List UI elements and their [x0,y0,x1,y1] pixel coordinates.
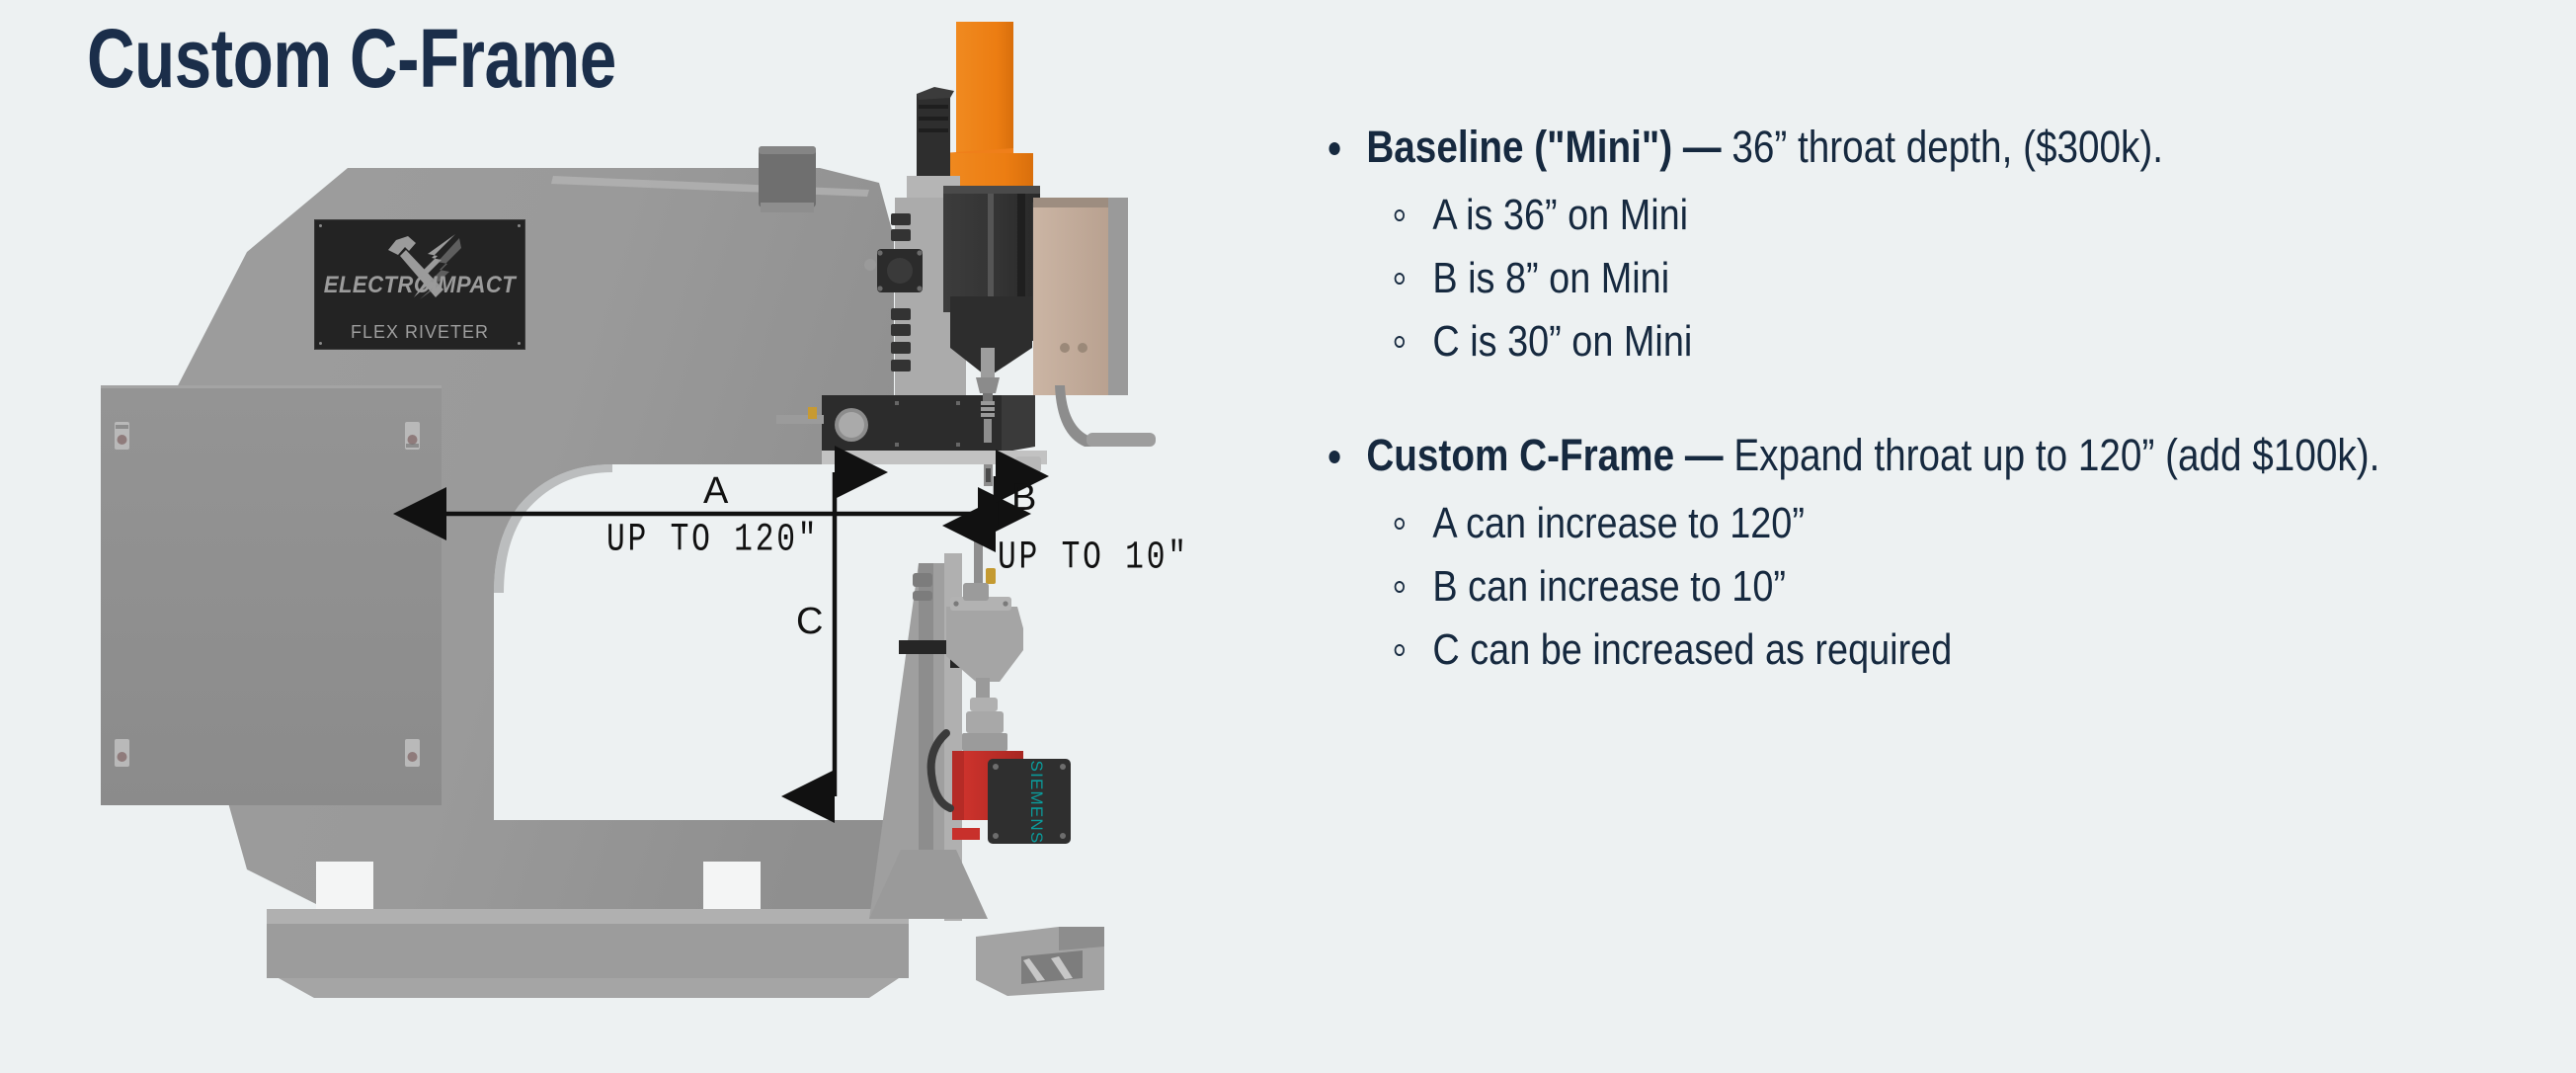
hollow-bullet-icon [1395,518,1405,530]
hollow-bullet-icon [1395,581,1405,593]
sub-bullet-a-mini: A is 36” on Mini [1314,184,2576,247]
logo-product-text: FLEX RIVETER [315,322,524,343]
panel-latch [405,422,420,450]
bullet-custom-rest: Expand throat up to 120” (add $100k). [1724,430,2380,480]
sub-bullet-text: C is 30” on Mini [1432,317,1692,366]
hollow-bullet-icon [1395,209,1405,221]
sub-bullet-text: B can increase to 10” [1432,562,1786,611]
column-fitting [913,573,932,587]
slide-root: Custom C-Frame [0,0,2576,1073]
svg-text:SIEMENS: SIEMENS [1027,761,1046,845]
sub-bullet-a-custom: A can increase to 120” [1314,492,2576,555]
bullet-baseline-lead: Baseline ("Mini") — [1366,122,1721,172]
panel-latch [115,739,129,767]
dimension-note-b: UP TO 10" [998,538,1189,578]
sub-bullet-b-mini: B is 8” on Mini [1314,247,2576,310]
logo-brand-text: ELECTROIMPACT [323,272,516,299]
plate-screw [319,224,322,227]
plate-screw [518,224,521,227]
panel-latch [405,739,420,767]
bullet-custom-c-frame: Custom C-Frame — Expand throat up to 120… [1314,425,2576,486]
lower-anvil-assembly: SIEMENS [869,538,1071,921]
dimension-label-a: A [703,472,728,510]
sub-bullet-b-custom: B can increase to 10” [1314,555,2576,619]
sub-bullet-c-mini: C is 30” on Mini [1314,310,2576,373]
floor-foot-bracket [976,927,1104,996]
bellows-actuator [917,87,954,183]
siemens-motor: SIEMENS [988,759,1071,844]
hydraulic-cylinder [759,146,816,212]
bullet-baseline-rest: 36” throat depth, ($300k). [1722,122,2163,172]
sub-bullet-text: C can be increased as required [1432,625,1952,674]
hollow-bullet-icon [1395,336,1405,348]
bullet-dot-icon [1328,142,1339,155]
bullet-dot-icon [1328,451,1339,463]
electroimpact-logo-plate: ELECTROIMPACT FLEX RIVETER [314,219,525,350]
hollow-bullet-icon [1395,644,1405,656]
ram-block [943,186,1040,312]
bullet-custom-lead: Custom C-Frame — [1366,430,1723,480]
sub-bullet-text: A can increase to 120” [1432,499,1805,547]
sub-bullet-text: A is 36” on Mini [1432,191,1688,239]
bullet-baseline: Baseline ("Mini") — 36” throat depth, ($… [1314,117,2576,178]
dimension-label-c: C [796,603,823,640]
panel-latch [115,422,129,450]
sub-bullet-c-custom: C can be increased as required [1314,619,2576,682]
bullet-group-spacer [1314,373,2548,425]
dimension-note-a: UP TO 120" [606,521,819,560]
frame-access-panel [101,385,442,805]
hollow-bullet-icon [1395,273,1405,285]
dimension-label-b: B [1011,479,1036,517]
sub-bullet-text: B is 8” on Mini [1432,254,1669,302]
spec-bullet-list: Baseline ("Mini") — 36” throat depth, ($… [1314,117,2548,682]
